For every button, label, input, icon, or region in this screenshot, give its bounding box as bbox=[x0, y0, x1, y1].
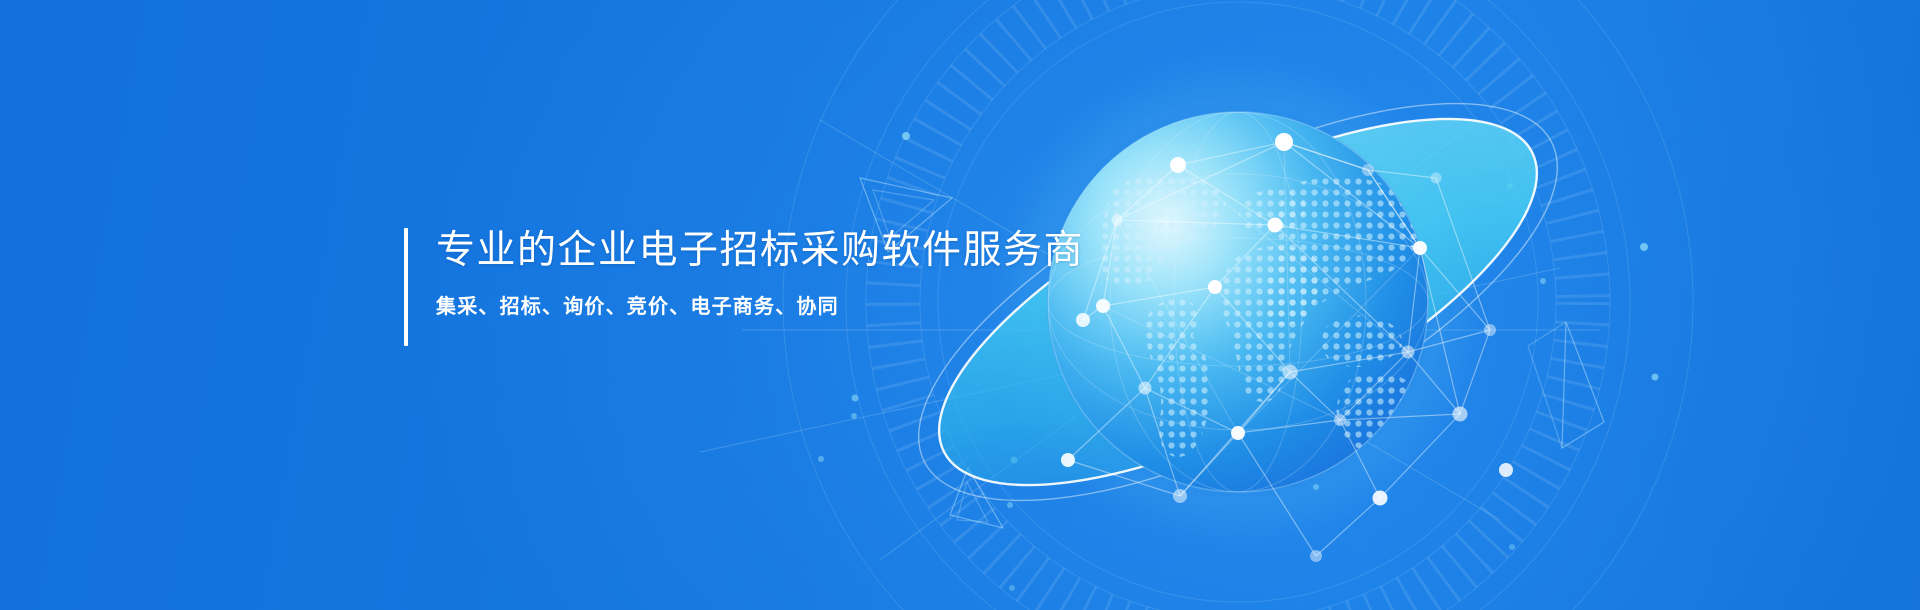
banner-subheadline: 集采、招标、询价、竞价、电子商务、协同 bbox=[436, 294, 1084, 320]
hero-banner: 专业的企业电子招标采购软件服务商 集采、招标、询价、竞价、电子商务、协同 bbox=[0, 0, 1920, 610]
banner-headline: 专业的企业电子招标采购软件服务商 bbox=[436, 228, 1084, 274]
copy-text: 专业的企业电子招标采购软件服务商 集采、招标、询价、竞价、电子商务、协同 bbox=[408, 228, 1084, 346]
banner-copy: 专业的企业电子招标采购软件服务商 集采、招标、询价、竞价、电子商务、协同 bbox=[404, 228, 1084, 346]
